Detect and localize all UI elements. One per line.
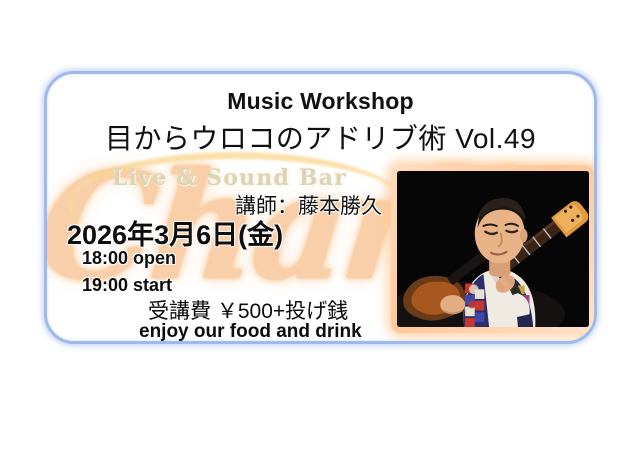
venue-name-label: Live & Sound Bar <box>112 165 347 191</box>
artist-photo-frame <box>391 165 595 333</box>
flyer-card: Charlie Music Workshop 目からウロコのアドリブ術 Vol.… <box>44 71 597 344</box>
food-and-drink-note: enjoy our food and drink <box>139 321 362 343</box>
start-time-label: 19:00 start <box>82 275 172 296</box>
flyer-title-japanese: 目からウロコのアドリブ術 Vol.49 <box>47 117 594 157</box>
flyer-page: { "flyer": { "title_en": "Music Workshop… <box>0 0 640 452</box>
artist-photo <box>397 171 589 327</box>
event-date-label: 2026年3月6日(金) <box>67 213 283 252</box>
guitarist-photo-illustration <box>397 171 589 327</box>
flyer-title-english: Music Workshop <box>47 88 594 115</box>
open-time-label: 18:00 open <box>82 248 176 269</box>
